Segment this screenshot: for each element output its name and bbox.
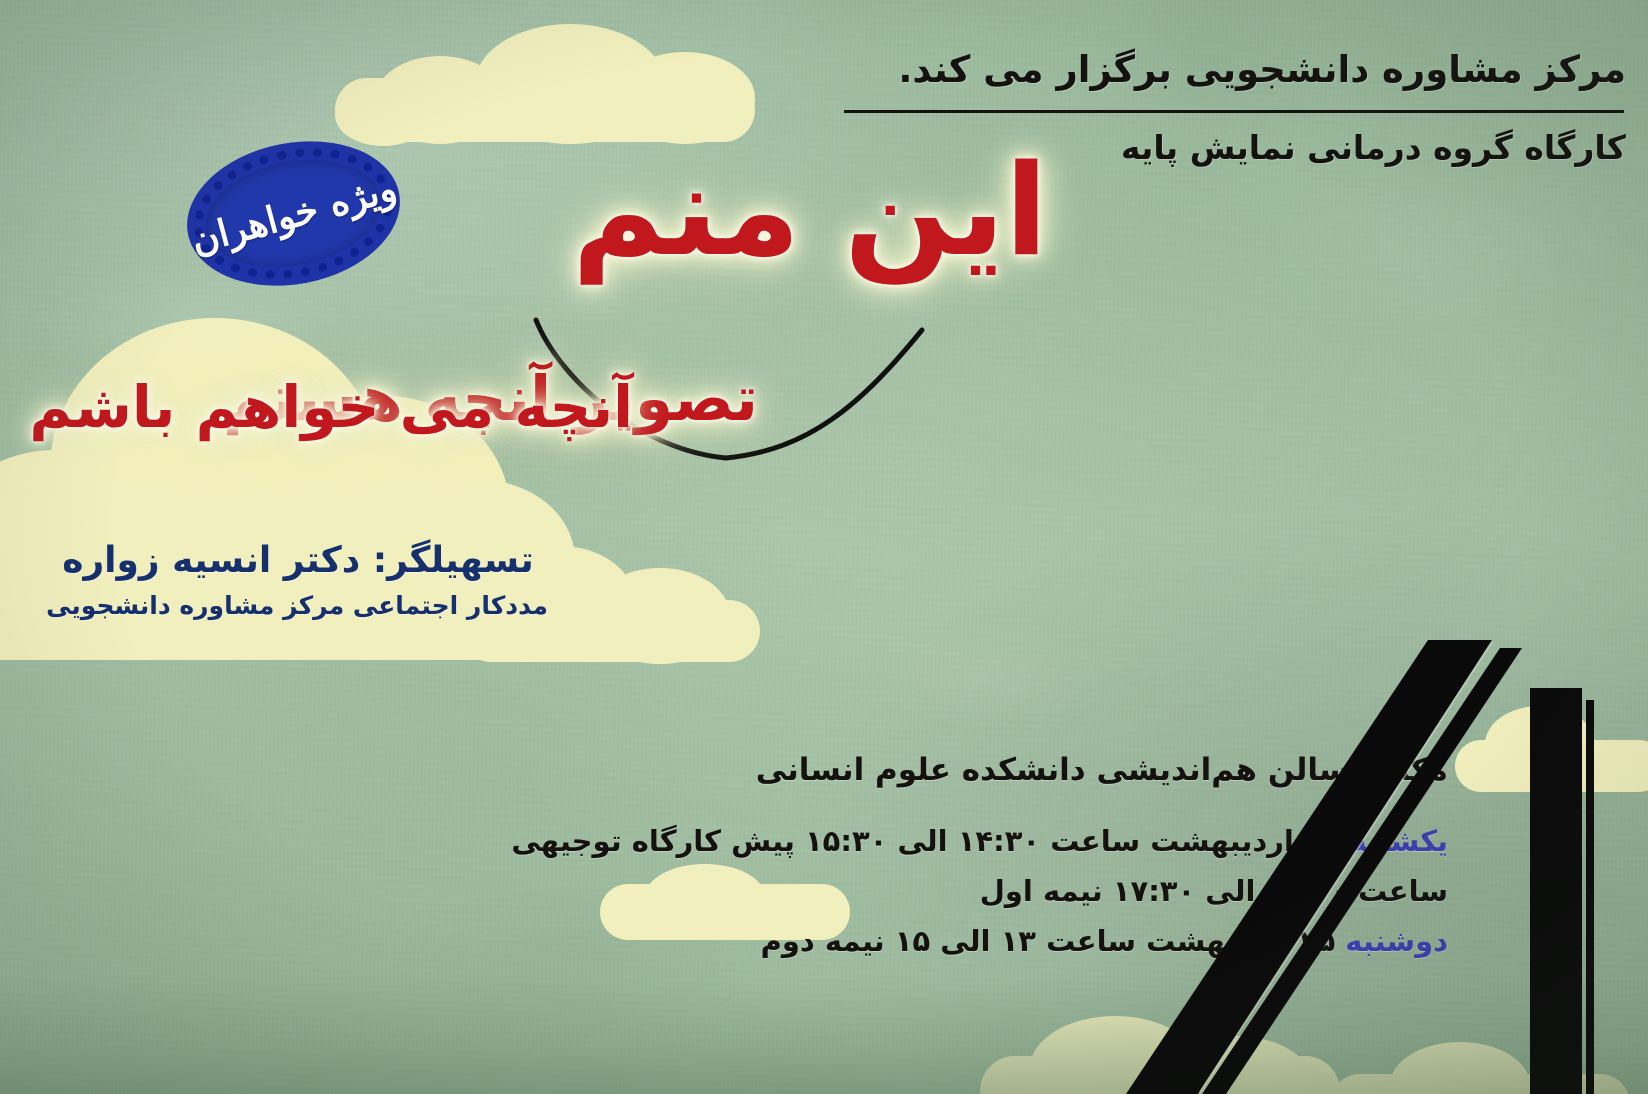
schedule-day: یکشنبه <box>1349 824 1448 858</box>
schedule-row: یکشنبه ۲۴ اردیبهشت ساعت ۱۴:۳۰ الی ۱۵:۳۰ … <box>248 824 1448 858</box>
schedule-list: یکشنبه ۲۴ اردیبهشت ساعت ۱۴:۳۰ الی ۱۵:۳۰ … <box>248 824 1448 958</box>
schedule-detail: ۲۵ اردیبهشت ساعت ۱۳ الی ۱۵ نیمه دوم <box>761 924 1346 958</box>
facilitator-block: تسهیلگر: دکتر انسیه زواره مددکار اجتماعی… <box>48 540 548 620</box>
schedule-row: ساعت ۱۵:۳۰ الی ۱۷:۳۰ نیمه اول <box>248 874 1448 908</box>
facilitator-name: تسهیلگر: دکتر انسیه زواره <box>48 540 548 581</box>
organizer-line: مرکز مشاوره دانشجویی برگزار می کند. <box>898 48 1626 91</box>
facilitator-role: مددکار اجتماعی مرکز مشاوره دانشجویی <box>48 591 548 620</box>
header-divider-rule <box>844 110 1624 113</box>
phrase-what-i-want-to-be: آنچه می خواهم باشم <box>29 378 633 436</box>
schedule-detail: ۲۴ اردیبهشت ساعت ۱۴:۳۰ الی ۱۵:۳۰ پیش کار… <box>511 824 1349 858</box>
schedule-detail: ساعت ۱۵:۳۰ الی ۱۷:۳۰ نیمه اول <box>980 874 1448 908</box>
main-title: این منم <box>572 148 1048 274</box>
workshop-subtitle: کارگاه گروه درمانی نمایش پایه <box>1121 128 1626 167</box>
info-block: مکان: سالن هم‌اندیشی دانشکده علوم انسانی… <box>248 752 1448 974</box>
poster-canvas: مرکز مشاوره دانشجویی برگزار می کند. کارگ… <box>0 0 1648 1094</box>
schedule-row: دوشنبه ۲۵ اردیبهشت ساعت ۱۳ الی ۱۵ نیمه د… <box>248 924 1448 958</box>
venue-line: مکان: سالن هم‌اندیشی دانشکده علوم انسانی <box>248 752 1448 788</box>
schedule-day: دوشنبه <box>1345 924 1448 958</box>
ground-strip <box>0 974 1648 1094</box>
